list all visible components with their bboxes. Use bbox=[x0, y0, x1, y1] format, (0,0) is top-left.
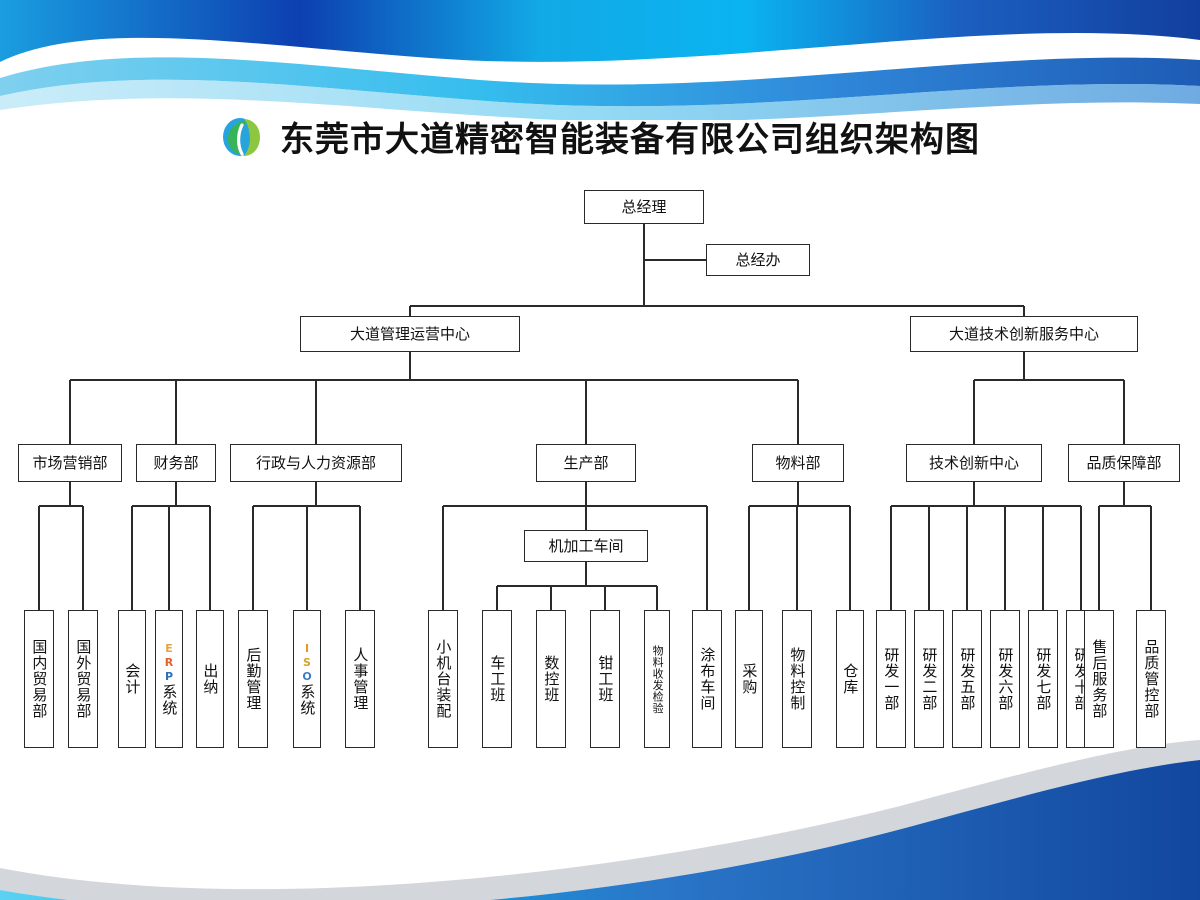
erp-prefix: ERP bbox=[165, 642, 173, 683]
node-marketing-department[interactable]: 市场营销部 bbox=[18, 444, 122, 482]
node-rd-dept-5[interactable]: 研发五部 bbox=[952, 610, 982, 748]
node-material-control[interactable]: 物料控制 bbox=[782, 610, 812, 748]
node-rd-dept-6[interactable]: 研发六部 bbox=[990, 610, 1020, 748]
node-general-manager[interactable]: 总经理 bbox=[584, 190, 704, 224]
node-accounting[interactable]: 会计 bbox=[118, 610, 146, 748]
node-erp-system[interactable]: ERP 系统 bbox=[155, 610, 183, 748]
node-warehouse[interactable]: 仓库 bbox=[836, 610, 864, 748]
node-materials-department[interactable]: 物料部 bbox=[752, 444, 844, 482]
node-admin-hr-department[interactable]: 行政与人力资源部 bbox=[230, 444, 402, 482]
node-general-managers-office[interactable]: 总经办 bbox=[706, 244, 810, 276]
node-rd-dept-7[interactable]: 研发七部 bbox=[1028, 610, 1058, 748]
node-rd-dept-1[interactable]: 研发一部 bbox=[876, 610, 906, 748]
node-after-sales-service-department[interactable]: 售后服务部 bbox=[1084, 610, 1114, 748]
node-cnc-team[interactable]: 数控班 bbox=[536, 610, 566, 748]
node-machining-workshop[interactable]: 机加工车间 bbox=[524, 530, 648, 562]
iso-prefix: ISO bbox=[302, 642, 311, 683]
node-domestic-trade-department[interactable]: 国内贸易部 bbox=[24, 610, 54, 748]
node-quality-control-department[interactable]: 品质管控部 bbox=[1136, 610, 1166, 748]
node-lathe-team[interactable]: 车工班 bbox=[482, 610, 512, 748]
node-technology-innovation-service-center[interactable]: 大道技术创新服务中心 bbox=[910, 316, 1138, 352]
org-chart-page: 东莞市大道精密智能装备有限公司组织架构图 bbox=[0, 0, 1200, 900]
node-personnel-management[interactable]: 人事管理 bbox=[345, 610, 375, 748]
node-overseas-trade-department[interactable]: 国外贸易部 bbox=[68, 610, 98, 748]
node-logistics-management[interactable]: 后勤管理 bbox=[238, 610, 268, 748]
node-material-receipt-inspection[interactable]: 物料收发检验 bbox=[644, 610, 670, 748]
node-quality-assurance-department[interactable]: 品质保障部 bbox=[1068, 444, 1180, 482]
erp-suffix-label: 系统 bbox=[161, 684, 178, 716]
org-chart-nodes: 总经理 总经办 大道管理运营中心 大道技术创新服务中心 市场营销部 财务部 行政… bbox=[0, 0, 1200, 900]
node-rd-dept-2[interactable]: 研发二部 bbox=[914, 610, 944, 748]
node-iso-system[interactable]: ISO 系统 bbox=[293, 610, 321, 748]
node-management-operation-center[interactable]: 大道管理运营中心 bbox=[300, 316, 520, 352]
node-cashier[interactable]: 出纳 bbox=[196, 610, 224, 748]
node-finance-department[interactable]: 财务部 bbox=[136, 444, 216, 482]
node-small-machine-assembly[interactable]: 小机台装配 bbox=[428, 610, 458, 748]
iso-suffix-label: 系统 bbox=[299, 684, 316, 716]
node-production-department[interactable]: 生产部 bbox=[536, 444, 636, 482]
node-technology-innovation-center[interactable]: 技术创新中心 bbox=[906, 444, 1042, 482]
node-coating-workshop[interactable]: 涂布车间 bbox=[692, 610, 722, 748]
node-purchasing[interactable]: 采购 bbox=[735, 610, 763, 748]
node-fitter-team[interactable]: 钳工班 bbox=[590, 610, 620, 748]
